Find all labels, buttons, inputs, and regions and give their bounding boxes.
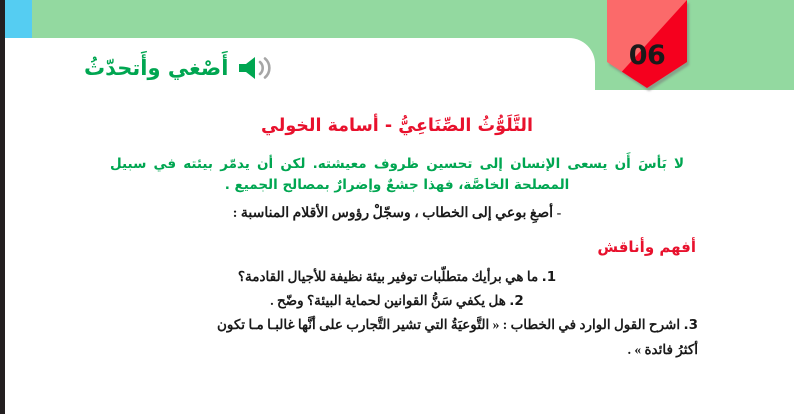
speaker-sound-icon (237, 54, 275, 82)
page-root: 06 أَصْغي وأَتحدّثُ التَّلَوُّثُ الصِّنَ… (0, 0, 794, 414)
section-title: أَصْغي وأَتحدّثُ (84, 58, 228, 79)
header-blue-tab (5, 0, 32, 39)
question-item-1: 1. ما هي برأيك متطلّبات توفير بيئة نظيفة… (96, 265, 698, 289)
question-item-2: 2. هل يكفي سَنُّ القوانين لحماية البيئة؟… (96, 289, 698, 313)
question-text-3-tail: أكثرُ فائدة » . (96, 338, 698, 361)
chapter-badge (607, 0, 687, 88)
question-list: 1. ما هي برأيك متطلّبات توفير بيئة نظيفة… (96, 265, 698, 361)
question-number-3: 3. (683, 317, 698, 333)
lesson-title: التَّلَوُّثُ الصِّنَاعِيُّ - أسامة الخول… (96, 116, 698, 136)
page-gutter-rule (0, 0, 5, 414)
lesson-excerpt: لا بَأسَ أَن يسعى الإنسان إلى تحسين ظروف… (96, 154, 698, 196)
question-text-3: اشرح القول الوارد في الخطاب : « التَّوعي… (217, 317, 680, 332)
question-text-1: ما هي برأيك متطلّبات توفير بيئة نظيفة لل… (238, 269, 538, 284)
lesson-instruction: - أصغِ بوعي إلى الخطاب ، وسجّلْ رؤوس الأ… (96, 205, 698, 222)
lesson-content: التَّلَوُّثُ الصِّنَاعِيُّ - أسامة الخول… (0, 98, 794, 414)
discussion-heading: أفهم وأناقش (96, 238, 698, 256)
question-text-2: هل يكفي سَنُّ القوانين لحماية البيئة؟ وض… (270, 293, 506, 308)
question-number-1: 1. (542, 269, 557, 285)
section-title-plate: أَصْغي وأَتحدّثُ (0, 38, 595, 98)
question-item-3: 3. اشرح القول الوارد في الخطاب : « التَّ… (96, 313, 698, 360)
question-number-2: 2. (509, 293, 524, 309)
